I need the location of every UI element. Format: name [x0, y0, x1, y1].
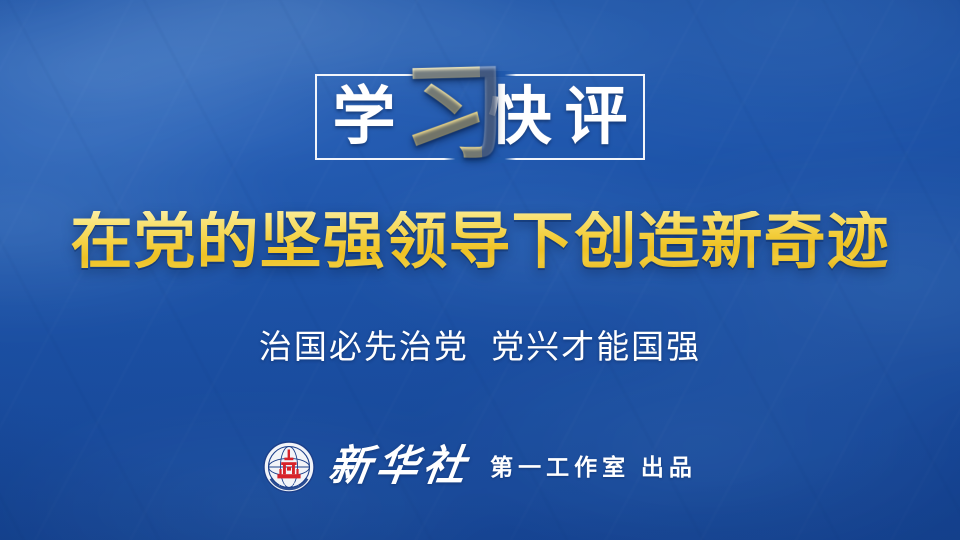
headline-text: 在党的坚强领导下创造新奇迹 [70, 211, 889, 273]
subtitle-text: 治国必先治党 党兴才能国强 [259, 330, 701, 363]
headline-row: 在党的坚强领导下创造新奇迹 [0, 196, 960, 288]
xinhua-emblem-icon: XINHUA [263, 441, 315, 493]
subtitle-row: 治国必先治党 党兴才能国强 [0, 324, 960, 368]
logo-char-ping: 评 [559, 86, 633, 149]
program-logo: 学 习 快 评 [315, 74, 645, 160]
logo-characters: 学 习 快 评 [315, 74, 645, 160]
xinhua-wordmark: 新华社 [326, 446, 473, 488]
logo-char-xue: 学 [327, 86, 401, 149]
logo-char-xi-gold: 习 [402, 62, 483, 168]
credit-bar: XINHUA 新华社 第一工作室 出品 [0, 436, 960, 498]
svg-text:XINHUA: XINHUA [279, 482, 299, 487]
studio-credit-text: 第一工作室 出品 [490, 456, 697, 479]
poster-canvas: 学 习 快 评 在党的坚强领导下创造新奇迹 治国必先治党 党兴才能国强 [0, 0, 960, 540]
